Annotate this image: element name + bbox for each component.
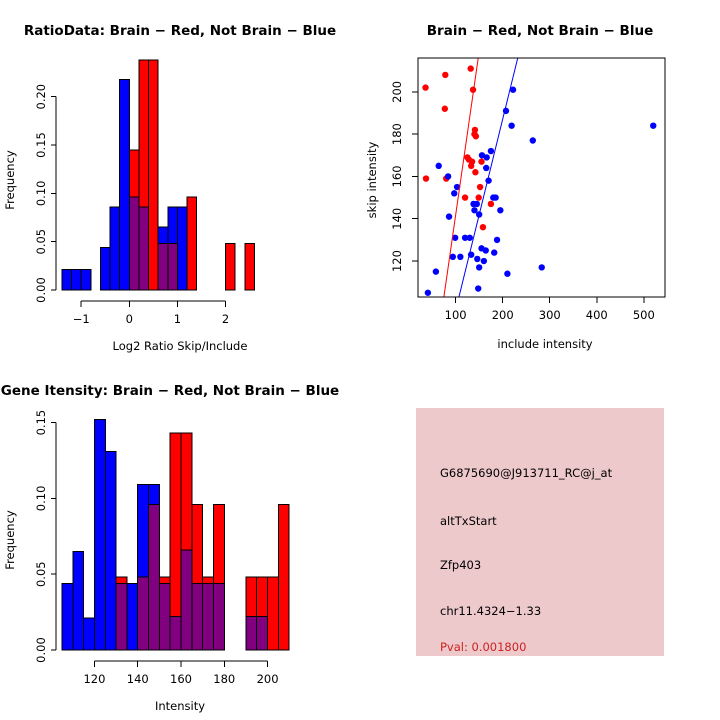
histogram-bar <box>72 270 82 290</box>
scatter-point <box>477 184 483 190</box>
ratio-histogram-ylabel: Frequency <box>3 150 17 210</box>
ratio-histogram-bars <box>62 60 254 290</box>
scatter-point <box>450 254 456 260</box>
scatter-point <box>491 249 497 255</box>
y-tick-label: 0.05 <box>34 229 48 255</box>
x-tick-label: 200 <box>257 672 279 686</box>
x-tick-label: 2 <box>222 312 229 326</box>
histogram-bar-overlap <box>246 617 257 650</box>
x-tick-label: 180 <box>213 672 235 686</box>
scatter-point <box>530 137 536 143</box>
y-tick-label: 0.15 <box>34 132 48 158</box>
panel-gene-info: G6875690@J913711_RC@j_ataltTxStartZfp403… <box>360 360 720 720</box>
histogram-bar-overlap <box>181 550 192 650</box>
info-text-line: G6875690@J913711_RC@j_at <box>440 466 612 480</box>
scatter-point <box>422 84 428 90</box>
x-tick-label: 160 <box>170 672 192 686</box>
scatter-xlabel: include intensity <box>497 337 592 351</box>
histogram-bar <box>245 244 255 290</box>
gene-histogram-ylabel: Frequency <box>3 510 17 570</box>
y-tick-label: 0.00 <box>34 277 48 303</box>
scatter-point <box>472 127 478 133</box>
y-tick-label: 0.15 <box>34 410 48 436</box>
scatter-axes: 120140160180200100200300400500 <box>390 58 665 322</box>
scatter-point <box>481 258 487 264</box>
scatter-point <box>445 173 451 179</box>
histogram-bar <box>187 197 197 290</box>
y-tick-label: 200 <box>390 81 404 103</box>
histogram-bar-overlap <box>159 583 170 650</box>
scatter-point <box>488 148 494 154</box>
scatter-point <box>446 213 452 219</box>
scatter-point <box>476 264 482 270</box>
scatter-point <box>474 201 480 207</box>
histogram-bar-overlap <box>168 244 178 290</box>
y-tick-label: 120 <box>390 250 404 272</box>
y-tick-label: 0.10 <box>34 486 48 512</box>
histogram-bar-overlap <box>138 577 149 650</box>
x-tick-label: 300 <box>539 308 561 322</box>
y-tick-label: 0.00 <box>34 637 48 663</box>
x-tick-label: −1 <box>73 312 90 326</box>
scatter-point <box>478 158 484 164</box>
fit-line <box>459 58 518 297</box>
histogram-bar-overlap <box>129 197 139 290</box>
panel-gene-intensity-histogram: Gene Itensity: Brain − Red, Not Brain − … <box>0 360 360 720</box>
scatter-point <box>442 72 448 78</box>
panel-ratio-histogram: RatioData: Brain − Red, Not Brain − Blue… <box>0 0 360 360</box>
x-tick-label: 0 <box>126 312 133 326</box>
scatter-point <box>504 271 510 277</box>
histogram-bar <box>268 577 279 650</box>
histogram-bar-overlap <box>170 617 181 650</box>
scatter-point <box>483 247 489 253</box>
histogram-bar <box>81 270 91 290</box>
scatter-point <box>475 194 481 200</box>
y-tick-label: 0.20 <box>34 84 48 110</box>
scatter-point <box>508 122 514 128</box>
x-tick-label: 200 <box>492 308 514 322</box>
scatter-point <box>473 133 479 139</box>
info-text-line: altTxStart <box>440 514 497 528</box>
scatter-point <box>425 290 431 296</box>
histogram-bar-overlap <box>257 617 268 650</box>
histogram-bar <box>94 420 105 650</box>
histogram-bar <box>100 247 110 290</box>
scatter-point <box>650 122 656 128</box>
y-tick-label: 140 <box>390 208 404 230</box>
info-text-line: Zfp403 <box>440 558 481 572</box>
scatter-point <box>457 254 463 260</box>
figure-canvas: RatioData: Brain − Red, Not Brain − Blue… <box>0 0 720 720</box>
x-tick-label: 140 <box>127 672 149 686</box>
histogram-bar-overlap <box>158 244 168 290</box>
histogram-bar <box>278 504 289 650</box>
scatter-point <box>488 201 494 207</box>
scatter-point <box>483 165 489 171</box>
scatter-point <box>474 256 480 262</box>
pvalue-text: Pval: 0.001800 <box>440 640 526 654</box>
histogram-bar <box>127 583 138 650</box>
scatter-point <box>467 65 473 71</box>
histogram-bar <box>177 207 187 290</box>
histogram-bar <box>84 618 95 650</box>
histogram-bar-overlap <box>149 504 160 650</box>
histogram-bar <box>226 244 236 290</box>
gene-histogram-svg: Gene Itensity: Brain − Red, Not Brain − … <box>0 360 360 720</box>
gene-histogram-title: Gene Itensity: Brain − Red, Not Brain − … <box>1 383 339 399</box>
scatter-ylabel: skip intensity <box>365 141 379 218</box>
histogram-bar-overlap <box>213 583 224 650</box>
scatter-point <box>475 285 481 291</box>
ratio-histogram-svg: RatioData: Brain − Red, Not Brain − Blue… <box>0 0 360 360</box>
histogram-bar <box>73 551 84 650</box>
ratio-histogram-title: RatioData: Brain − Red, Not Brain − Blue <box>24 23 336 39</box>
gene-info-box: G6875690@J913711_RC@j_ataltTxStartZfp403… <box>416 408 664 656</box>
info-text-line: chr11.4324−1.33 <box>440 604 541 618</box>
gene-histogram-bars <box>62 420 289 650</box>
scatter-point <box>539 264 545 270</box>
y-tick-label: 160 <box>390 165 404 187</box>
panel-intensity-scatter: Brain − Red, Not Brain − Blue 1201401601… <box>360 0 720 360</box>
scatter-point <box>462 194 468 200</box>
histogram-bar <box>149 60 159 290</box>
scatter-point <box>436 163 442 169</box>
scatter-points <box>422 65 656 296</box>
scatter-title: Brain − Red, Not Brain − Blue <box>427 23 653 39</box>
scatter-point <box>472 169 478 175</box>
scatter-point <box>480 224 486 230</box>
x-tick-label: 120 <box>83 672 105 686</box>
histogram-bar <box>105 451 116 650</box>
gene-histogram-xlabel: Intensity <box>155 699 205 713</box>
y-tick-label: 180 <box>390 123 404 145</box>
scatter-point <box>451 190 457 196</box>
histogram-bar-overlap <box>116 583 127 650</box>
histogram-bar-overlap <box>192 583 203 650</box>
scatter-point <box>442 106 448 112</box>
plot-frame <box>418 58 665 297</box>
y-tick-label: 0.10 <box>34 181 48 207</box>
x-tick-label: 100 <box>445 308 467 322</box>
x-tick-label: 400 <box>586 308 608 322</box>
y-tick-label: 0.05 <box>34 561 48 587</box>
ratio-histogram-xlabel: Log2 Ratio Skip/Include <box>113 339 248 353</box>
scatter-point <box>468 163 474 169</box>
histogram-bar-overlap <box>139 207 149 290</box>
histogram-bar-overlap <box>203 583 214 650</box>
x-tick-label: 1 <box>174 312 181 326</box>
histogram-bar <box>62 583 73 650</box>
histogram-bar <box>120 79 130 290</box>
scatter-point <box>492 194 498 200</box>
scatter-point <box>483 154 489 160</box>
scatter-point <box>467 235 473 241</box>
intensity-scatter-svg: Brain − Red, Not Brain − Blue 1201401601… <box>360 0 720 360</box>
scatter-point <box>497 207 503 213</box>
scatter-point <box>423 175 429 181</box>
histogram-bar <box>110 207 120 290</box>
scatter-point <box>494 237 500 243</box>
histogram-bar <box>62 270 72 290</box>
scatter-point <box>433 268 439 274</box>
x-tick-label: 500 <box>633 308 655 322</box>
